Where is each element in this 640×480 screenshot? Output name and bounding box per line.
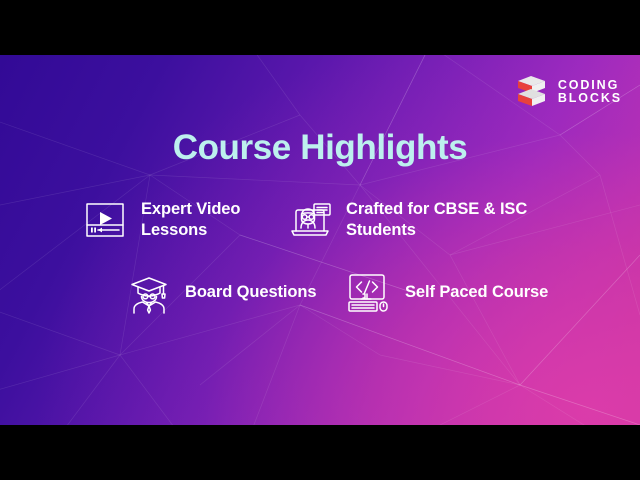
brand-logo-line-2: BLOCKS [558, 92, 622, 105]
page-title: Course Highlights [0, 128, 640, 168]
graduate-cap-person-icon [126, 271, 172, 315]
feature-label: Board Questions [185, 282, 316, 303]
feature-self-paced-course: Self Paced Course [346, 271, 576, 315]
student-at-laptop-icon [287, 198, 333, 242]
feature-board-questions: Board Questions [126, 271, 346, 315]
feature-list: Expert Video Lessons [0, 198, 640, 315]
stacked-blocks-icon [515, 74, 549, 110]
letterbox-bottom [0, 425, 640, 480]
feature-row-bottom: Board Questions [0, 271, 640, 315]
feature-expert-video-lessons: Expert Video Lessons [82, 198, 287, 242]
slide-canvas: CODING BLOCKS Course Highlights [0, 55, 640, 425]
desktop-code-icon [346, 271, 392, 315]
brand-logo: CODING BLOCKS [515, 74, 622, 110]
feature-label: Expert Video Lessons [141, 199, 287, 241]
video-frame: CODING BLOCKS Course Highlights [0, 0, 640, 480]
video-player-icon [82, 198, 128, 242]
feature-label: Self Paced Course [405, 282, 548, 303]
letterbox-top [0, 0, 640, 55]
feature-row-top: Expert Video Lessons [0, 198, 640, 242]
brand-logo-text: CODING BLOCKS [558, 79, 622, 106]
feature-crafted-for-cbse-isc-students: Crafted for CBSE & ISC Students [287, 198, 547, 242]
feature-label: Crafted for CBSE & ISC Students [346, 199, 547, 241]
slide-content: CODING BLOCKS Course Highlights [0, 55, 640, 425]
brand-logo-line-1: CODING [558, 79, 622, 92]
